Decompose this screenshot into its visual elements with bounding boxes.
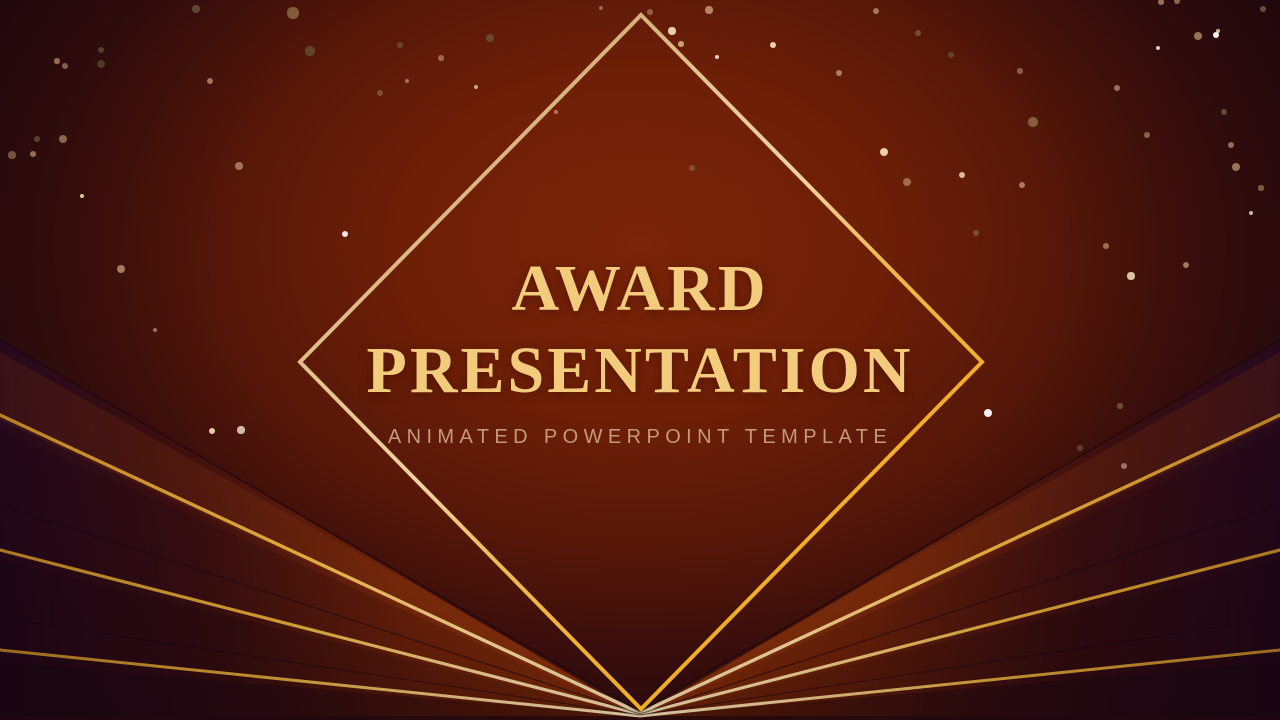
award-presentation-slide: AWARD PRESENTATION ANIMATED POWERPOINT T…	[0, 0, 1280, 720]
page-title: AWARD PRESENTATION	[0, 248, 1280, 412]
title-text-block: AWARD PRESENTATION ANIMATED POWERPOINT T…	[0, 248, 1280, 449]
title-line-2: PRESENTATION	[0, 330, 1280, 412]
title-line-1: AWARD	[511, 252, 768, 325]
subtitle: ANIMATED POWERPOINT TEMPLATE	[0, 426, 1280, 449]
